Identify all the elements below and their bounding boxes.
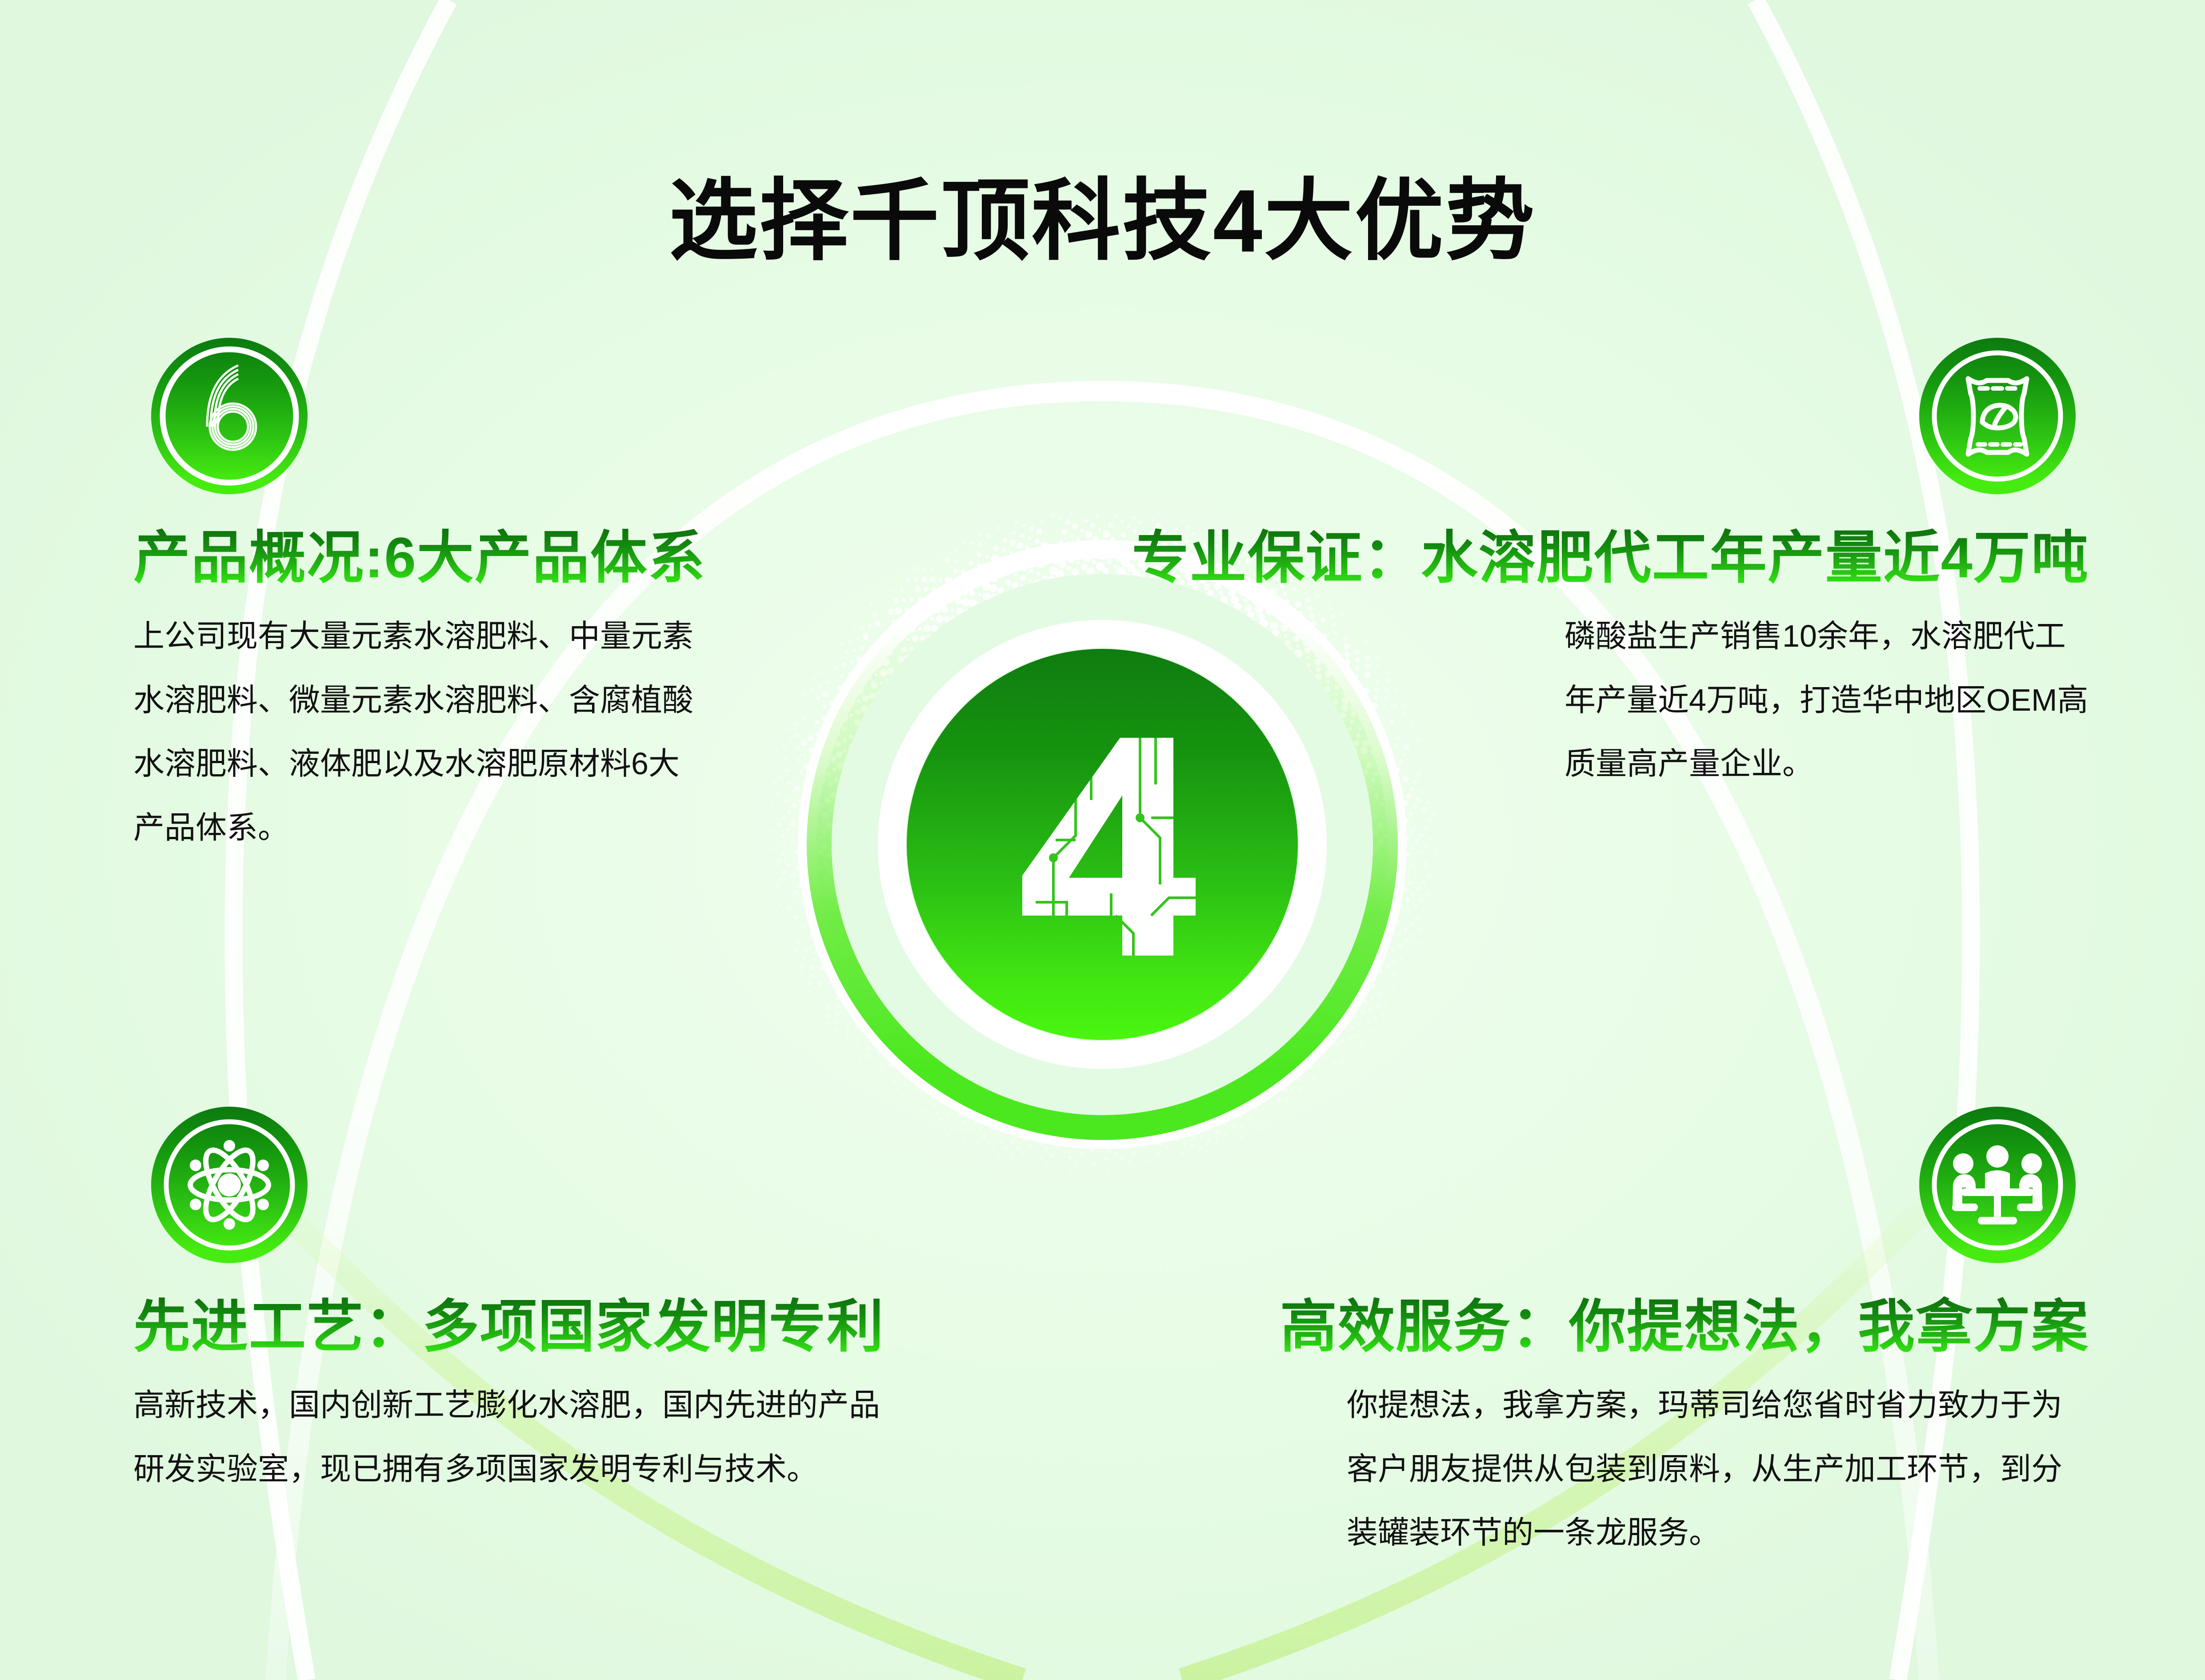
feature-heading: 专业保证：水溶肥代工年产量近4万吨 — [1132, 524, 2089, 592]
circuit-four-icon — [964, 707, 1240, 982]
number-six-rings-icon — [151, 338, 308, 494]
atom-icon — [151, 1107, 308, 1263]
page-title: 选择千顶科技4大优势 — [0, 148, 2205, 277]
fertilizer-bag-icon — [1919, 338, 2076, 494]
team-meeting-icon — [1919, 1107, 2076, 1263]
feature-heading: 高效服务：你提想法，我拿方案 — [1280, 1293, 2089, 1360]
feature-heading: 产品概况:6大产品体系 — [133, 524, 706, 592]
poster-canvas: 选择千顶科技4大优势 — [0, 0, 2205, 1680]
center-core-circle — [907, 649, 1298, 1040]
feature-heading: 先进工艺：多项国家发明专利 — [133, 1293, 884, 1360]
feature-body: 磷酸盐生产销售10余年，水溶肥代工年产量近4万吨，打造华中地区OEM高质量高产量… — [1565, 604, 2089, 796]
feature-body: 高新技术，国内创新工艺膨化水溶肥，国内先进的产品研发实验室，现已拥有多项国家发明… — [133, 1373, 898, 1501]
feature-body: 上公司现有大量元素水溶肥料、中量元素水溶肥料、微量元素水溶肥料、含腐植酸水溶肥料… — [133, 604, 693, 860]
feature-body: 你提想法，我拿方案，玛蒂司给您省时省力致力于为客户朋友提供从包装到原料，从生产加… — [1347, 1373, 2089, 1565]
